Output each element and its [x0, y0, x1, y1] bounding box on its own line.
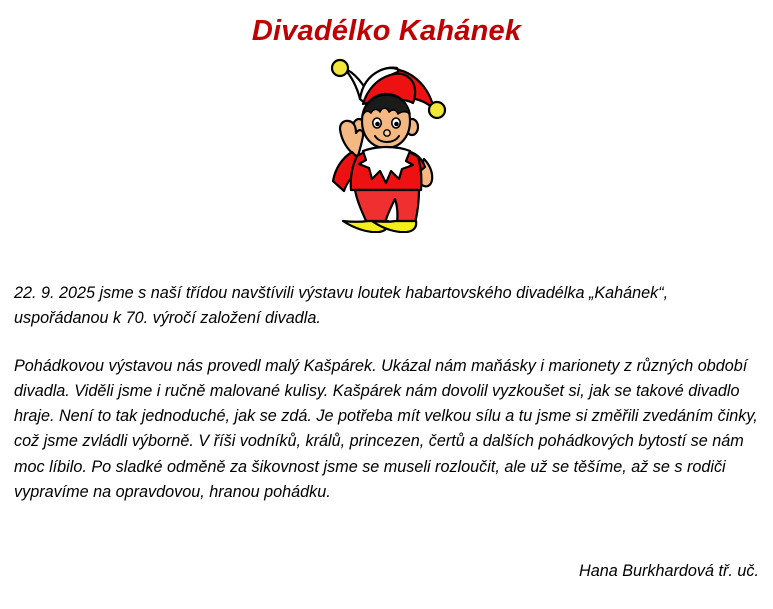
kasparek-jester-illustration — [311, 55, 459, 233]
document-page: Divadélko Kahánek — [0, 0, 773, 609]
paragraph-intro: 22. 9. 2025 jsme s naší třídou navštívil… — [14, 281, 759, 332]
paragraph-main: Pohádkovou výstavou nás provedl malý Kaš… — [14, 354, 759, 506]
signature-line: Hana Burkhardová tř. uč. — [14, 559, 759, 584]
article-body: 22. 9. 2025 jsme s naší třídou navštívil… — [14, 281, 759, 505]
page-title: Divadélko Kahánek — [0, 14, 773, 48]
kasparek-jester-icon — [311, 55, 459, 233]
